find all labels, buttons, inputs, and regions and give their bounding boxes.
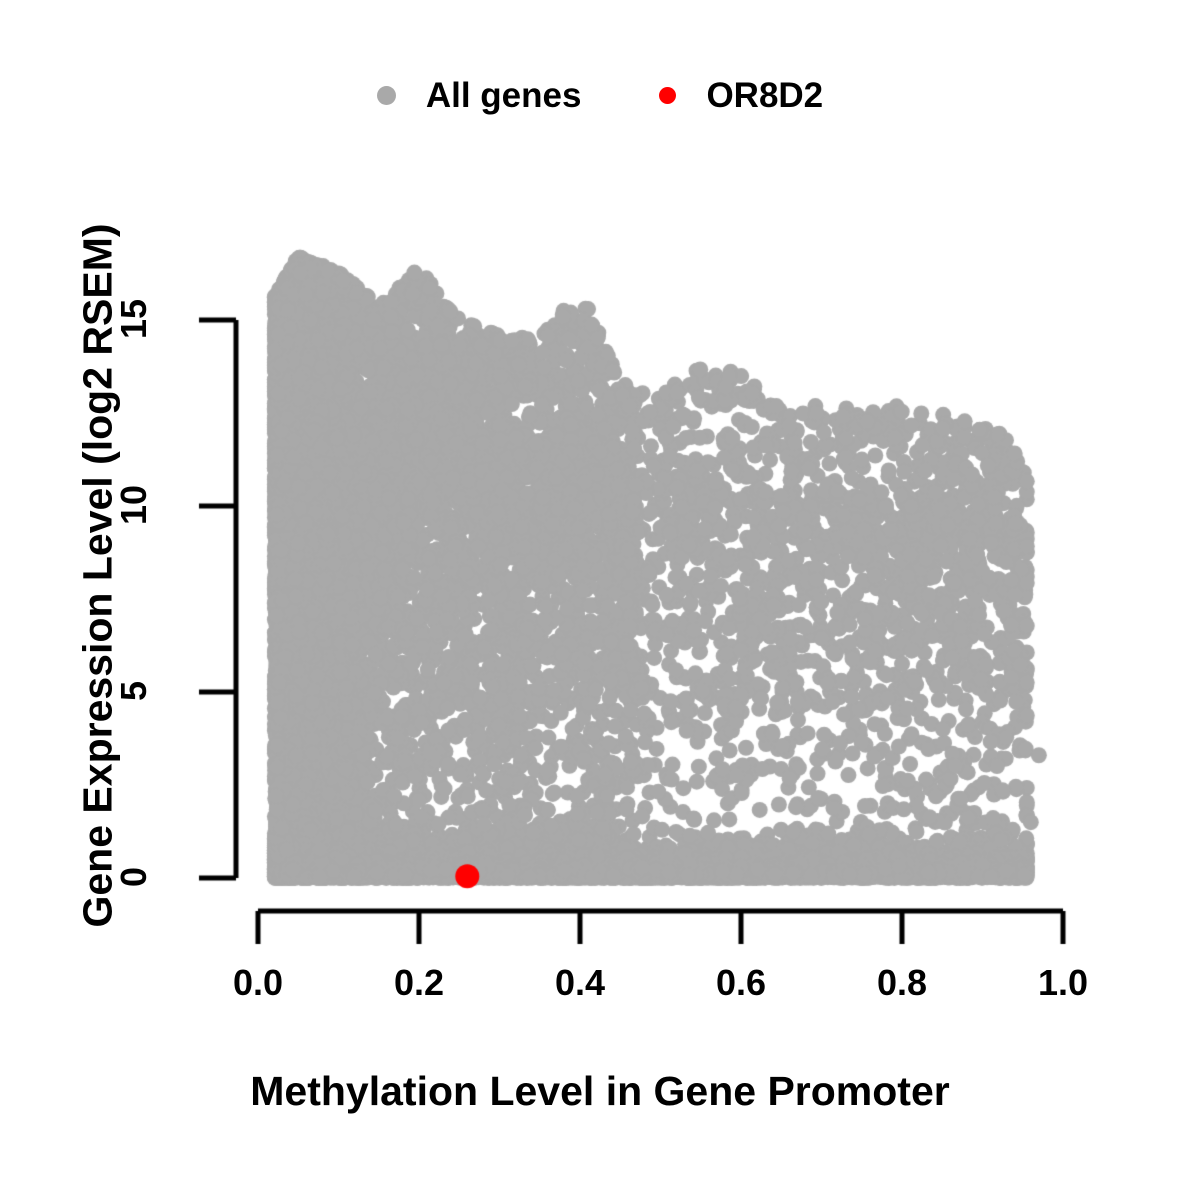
x-tick-label: 0.4 (520, 962, 640, 1004)
x-tick-label: 0.2 (359, 962, 479, 1004)
y-tick-label: 10 (113, 445, 155, 565)
y-tick-label: 0 (113, 817, 155, 937)
x-tick-label: 0.0 (198, 962, 318, 1004)
scatter-plot-figure: All genes OR8D2 Methylation Level in Gen… (0, 0, 1200, 1200)
x-tick-label: 0.6 (681, 962, 801, 1004)
x-axis-title: Methylation Level in Gene Promoter (0, 1068, 1200, 1115)
x-tick-label: 0.8 (842, 962, 962, 1004)
x-tick-label: 1.0 (1003, 962, 1123, 1004)
y-tick-label: 5 (113, 631, 155, 751)
plot-area (0, 0, 1200, 1200)
y-tick-label: 15 (113, 259, 155, 379)
